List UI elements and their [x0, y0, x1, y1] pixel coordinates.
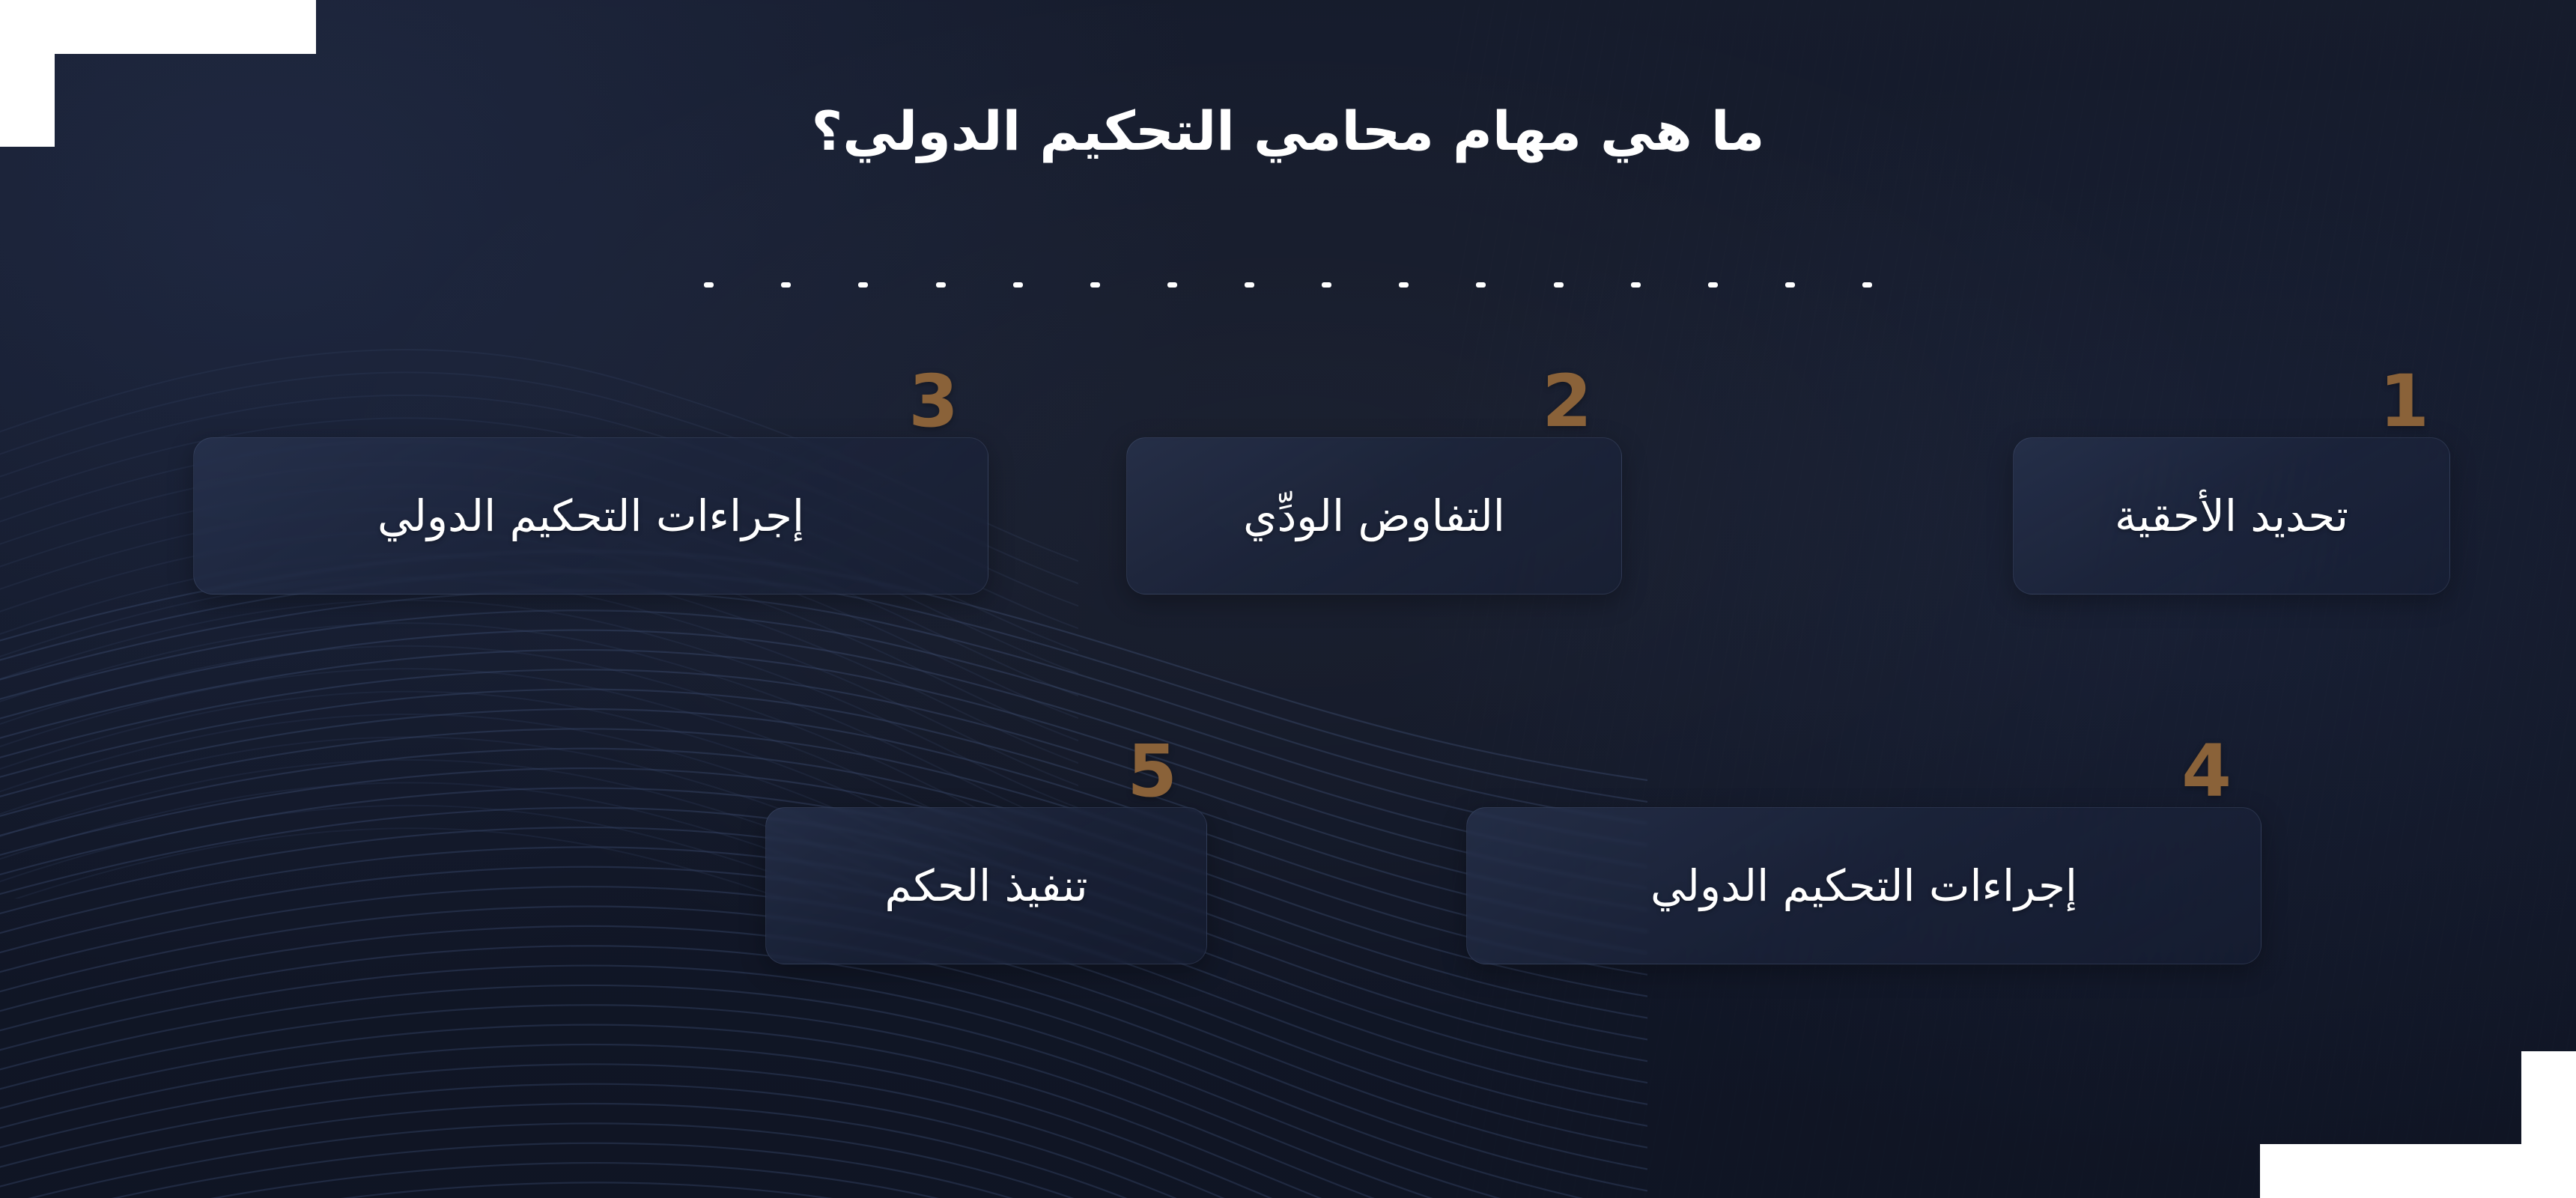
- divider-dash: [1708, 282, 1718, 288]
- slide-canvas: ما هي مهام محامي التحكيم الدولي؟ تحديد ا…: [0, 0, 2576, 1198]
- step-card-2-label: التفاوض الودِّي: [1224, 491, 1525, 541]
- step-card-2[interactable]: التفاوض الودِّي: [1126, 437, 1622, 595]
- wave-line: [0, 966, 1647, 1198]
- step-number-3: 3: [908, 365, 959, 437]
- wave-line: [0, 591, 1647, 830]
- wave-line: [0, 926, 1647, 1198]
- wave-line: [0, 1005, 1647, 1198]
- step-card-3[interactable]: إجراءات التحكيم الدولي: [193, 437, 988, 595]
- divider-dash: [1399, 282, 1409, 288]
- divider-dash: [1167, 282, 1177, 288]
- wave-line: [0, 1104, 1647, 1198]
- wave-line: [0, 1163, 1647, 1198]
- divider-dash: [1631, 282, 1641, 288]
- wave-line: [0, 946, 1647, 1198]
- step-card-4-label: إجراءات التحكيم الدولي: [1631, 861, 2097, 911]
- divider-dash: [1554, 282, 1564, 288]
- background-glow-right: [1303, 90, 2576, 1198]
- wave-line: [0, 1025, 1647, 1198]
- slide-title: ما هي مهام محامي التحكيم الدولي؟: [0, 97, 2576, 165]
- divider-dash: [936, 282, 946, 288]
- wave-line: [0, 1143, 1647, 1198]
- wave-line: [0, 600, 1078, 824]
- wave-line: [0, 1123, 1647, 1198]
- background-streaks: [1453, 0, 2576, 1198]
- wave-line: [0, 577, 1078, 801]
- step-number-4: 4: [2181, 735, 2232, 807]
- divider-dash: [704, 282, 714, 288]
- wave-line: [0, 1045, 1647, 1198]
- step-card-3-label: إجراءات التحكيم الدولي: [358, 491, 824, 541]
- step-card-4[interactable]: إجراءات التحكيم الدولي: [1466, 807, 2261, 964]
- divider-dash: [1476, 282, 1486, 288]
- step-number-2: 2: [1542, 365, 1592, 437]
- corner-mark-bottom-right-vertical: [2521, 1051, 2576, 1198]
- divider-dash: [1245, 282, 1254, 288]
- divider-dash: [1862, 282, 1872, 288]
- wave-line: [0, 1064, 1647, 1198]
- wave-line: [0, 1182, 1647, 1198]
- step-card-1-label: تحديد الأحقية: [2095, 491, 2368, 541]
- step-card-5[interactable]: تنفيذ الحكم: [765, 807, 1207, 964]
- divider-dash: [1090, 282, 1100, 288]
- background-vignette: [0, 0, 2576, 1198]
- dashed-divider: [704, 277, 1872, 292]
- step-number-5: 5: [1127, 735, 1177, 807]
- wave-line: [0, 985, 1647, 1198]
- divider-dash: [1013, 282, 1023, 288]
- divider-dash: [858, 282, 868, 288]
- divider-dash: [781, 282, 791, 288]
- divider-dash: [1322, 282, 1331, 288]
- divider-dash: [1785, 282, 1795, 288]
- wave-line: [0, 571, 1647, 808]
- wave-line: [0, 1084, 1647, 1198]
- step-card-1[interactable]: تحديد الأحقية: [2013, 437, 2450, 595]
- step-card-5-label: تنفيذ الحكم: [865, 861, 1107, 911]
- step-number-1: 1: [2379, 365, 2429, 437]
